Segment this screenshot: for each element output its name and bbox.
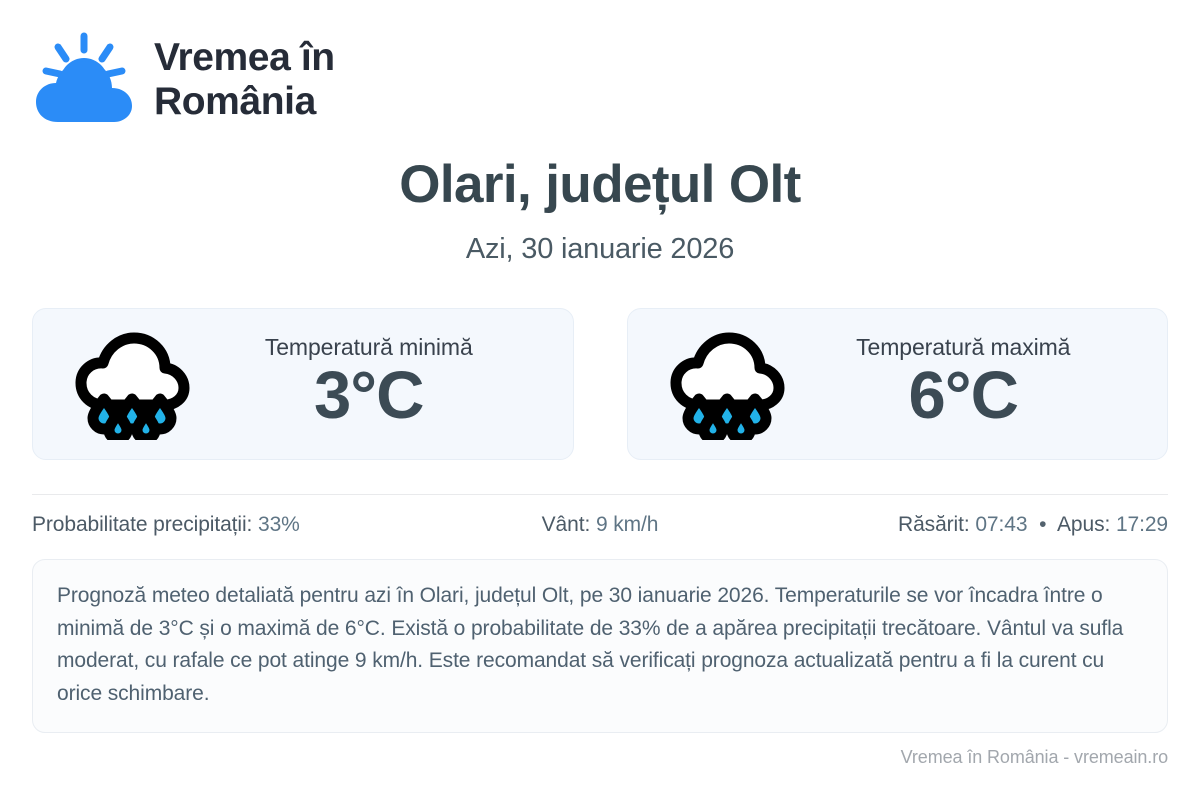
section-divider — [32, 494, 1168, 495]
temperature-cards: Temperatură minimă 3°C Temp — [32, 308, 1168, 460]
precipitation-value: 33% — [258, 513, 300, 536]
stats-row: Probabilitate precipitații: 33% Vânt: 9 … — [32, 513, 1168, 537]
rain-cloud-icon — [666, 328, 788, 440]
wind-stat: Vânt: 9 km/h — [411, 513, 790, 537]
sunrise-value: 07:43 — [975, 513, 1027, 536]
sun-behind-cloud-icon — [32, 30, 136, 130]
footer-credit: Vremea în România - vremeain.ro — [901, 747, 1168, 768]
title-block: Olari, județul Olt Azi, 30 ianuarie 2026 — [32, 156, 1168, 266]
brand-header: Vremea în România — [32, 0, 1168, 112]
precipitation-stat: Probabilitate precipitații: 33% — [32, 513, 411, 537]
forecast-description: Prognoză meteo detaliată pentru azi în O… — [32, 559, 1168, 733]
sunset-value: 17:29 — [1116, 513, 1168, 536]
brand-name: Vremea în România — [154, 36, 335, 123]
wind-value: 9 km/h — [596, 513, 658, 536]
page-subtitle: Azi, 30 ianuarie 2026 — [32, 233, 1168, 266]
sunset-label: Apus: — [1057, 513, 1110, 536]
precipitation-label: Probabilitate precipitații: — [32, 513, 252, 536]
stat-separator: • — [1033, 513, 1052, 536]
sun-times-stat: Răsărit: 07:43 • Apus: 17:29 — [789, 513, 1168, 537]
brand-name-line2: România — [154, 80, 335, 124]
wind-label: Vânt: — [542, 513, 591, 536]
max-temperature-value: 6°C — [788, 357, 1140, 434]
page-title: Olari, județul Olt — [32, 156, 1168, 214]
brand-name-line1: Vremea în — [154, 36, 335, 80]
min-temperature-card: Temperatură minimă 3°C — [32, 308, 574, 460]
max-temperature-text: Temperatură maximă 6°C — [788, 334, 1162, 434]
rain-cloud-icon — [71, 328, 193, 440]
sunrise-label: Răsărit: — [898, 513, 970, 536]
max-temperature-card: Temperatură maximă 6°C — [627, 308, 1169, 460]
min-temperature-text: Temperatură minimă 3°C — [193, 334, 567, 434]
weather-page: Vremea în România Olari, județul Olt Azi… — [0, 0, 1200, 800]
min-temperature-value: 3°C — [193, 357, 545, 434]
